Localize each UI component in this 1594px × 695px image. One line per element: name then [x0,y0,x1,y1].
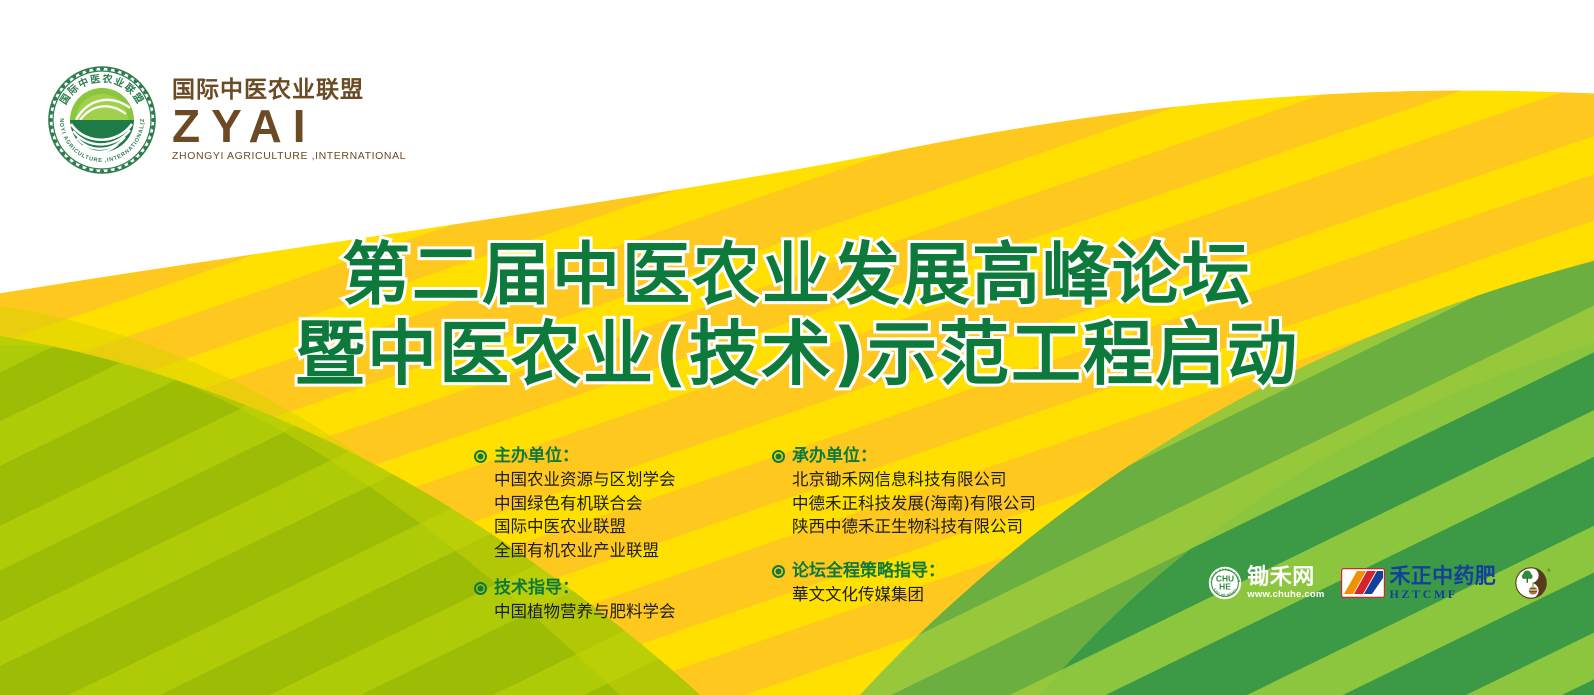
hezheng-z-mark-icon [1341,568,1385,598]
list-item: 陕西中德禾正生物科技有限公司 [792,515,1022,538]
list-item: 国际中医农业联盟 [494,515,724,538]
list-item: 中国植物营养与肥料学会 [494,600,724,623]
info-group: 承办单位： 北京锄禾网信息科技有限公司 中德禾正科技发展(海南)有限公司 陕西中… [772,446,1022,539]
list-item: 中国农业资源与区划学会 [494,468,724,491]
info-heading: 技术指导： [494,578,579,599]
info-heading: 承办单位： [792,446,877,467]
bullet-icon [772,565,785,578]
list-item: 全国有机农业产业联盟 [494,539,724,562]
info-group: 主办单位： 中国农业资源与区划学会 中国绿色有机联合会 国际中医农业联盟 全国有… [474,446,724,562]
list-item: 華文文化传媒集团 [792,583,1022,606]
registered-mark: ® [1547,567,1551,574]
title-line-2: 暨中医农业(技术)示范工程启动 [0,315,1594,394]
sponsor-yinyang-tree: ® [1512,563,1552,603]
info-heading: 主办单位： [494,446,579,467]
org-name-cn: 国际中医农业联盟 [172,79,406,102]
info-items: 北京锄禾网信息科技有限公司 中德禾正科技发展(海南)有限公司 陕西中德禾正生物科… [792,468,1022,538]
info-group: 技术指导： 中国植物营养与肥料学会 [474,578,724,624]
list-item: 北京锄禾网信息科技有限公司 [792,468,1022,491]
sponsor-logos: CHU HE CHINA GREEN FARM CHU HE WANG 锄禾网 … [1208,563,1552,603]
info-column-left: 主办单位： 中国农业资源与区划学会 中国绿色有机联合会 国际中医农业联盟 全国有… [474,446,724,640]
info-heading: 论坛全程策略指导： [792,561,945,582]
bullet-icon [474,450,487,463]
info-items: 中国农业资源与区划学会 中国绿色有机联合会 国际中医农业联盟 全国有机农业产业联… [494,468,724,562]
list-item: 中国绿色有机联合会 [494,492,724,515]
alliance-seal-icon: 国际中医农业联盟 ZHONGYI AGRICULTURE ,INTERNATIO… [46,64,158,176]
bullet-icon [474,582,487,595]
event-title: 第二届中医农业发展高峰论坛 暨中医农业(技术)示范工程启动 [0,238,1594,394]
sponsor-hztcmf: 禾正中药肥 HZTCMF [1341,566,1497,600]
hztcmf-acronym: HZTCMF [1390,588,1497,600]
info-items: 中国植物营养与肥料学会 [494,600,724,623]
title-line-1: 第二届中医农业发展高峰论坛 [0,238,1594,315]
chuhe-url: www.chuhe.com [1247,590,1324,600]
svg-text:HE: HE [1219,582,1231,592]
hztcmf-name: 禾正中药肥 [1390,566,1497,587]
info-group: 论坛全程策略指导： 華文文化传媒集团 [772,561,1022,607]
list-item: 中德禾正科技发展(海南)有限公司 [792,492,1022,515]
conference-banner: 国际中医农业联盟 ZHONGYI AGRICULTURE ,INTERNATIO… [0,0,1594,695]
sponsor-chuhe: CHU HE CHINA GREEN FARM CHU HE WANG 锄禾网 … [1208,566,1324,600]
organizers-info: 主办单位： 中国农业资源与区划学会 中国绿色有机联合会 国际中医农业联盟 全国有… [474,446,1022,640]
info-column-right: 承办单位： 北京锄禾网信息科技有限公司 中德禾正科技发展(海南)有限公司 陕西中… [772,446,1022,640]
organization-logo: 国际中医农业联盟 ZHONGYI AGRICULTURE ,INTERNATIO… [46,64,406,176]
yinyang-tree-emblem-icon: ® [1512,563,1552,603]
chuhe-name: 锄禾网 [1247,567,1324,589]
chuhe-badge-icon: CHU HE CHINA GREEN FARM CHU HE WANG [1208,566,1242,600]
org-name-en: ZHONGYI AGRICULTURE ,INTERNATIONAL [172,151,406,162]
org-acronym: ZYAI [172,103,406,149]
bullet-icon [772,450,785,463]
info-items: 華文文化传媒集团 [792,583,1022,606]
